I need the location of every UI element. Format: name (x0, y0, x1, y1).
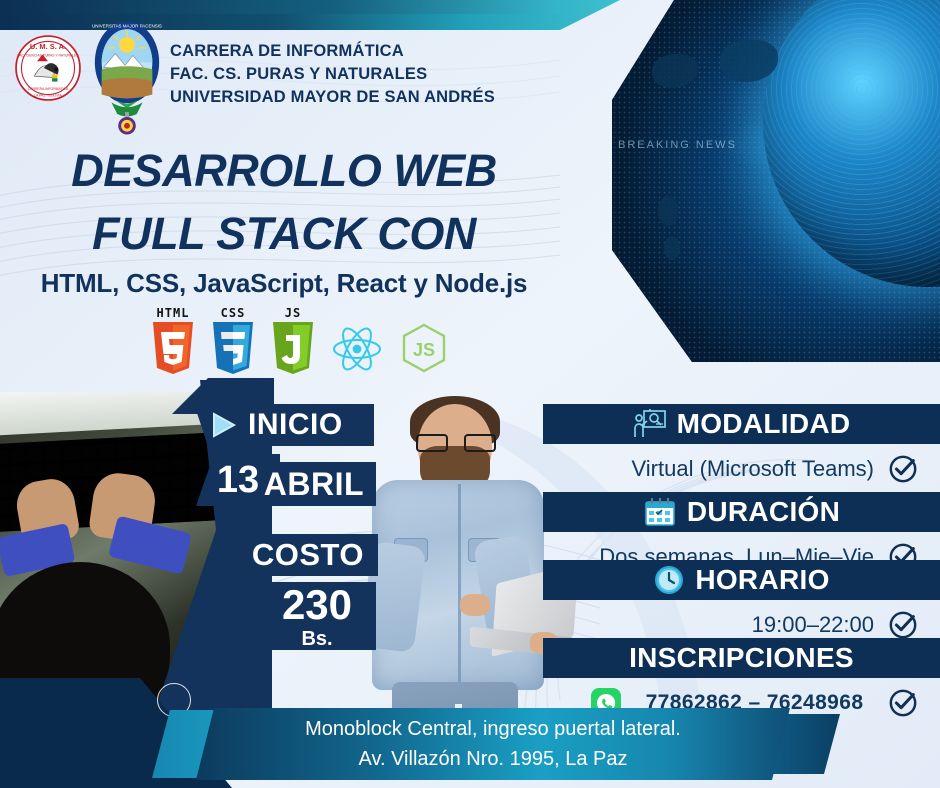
footer-address-block: Monoblock Central, ingreso puertal later… (196, 708, 790, 780)
org-line-university: UNIVERSIDAD MAYOR DE SAN ANDRÉS (170, 86, 495, 109)
svg-text:U. M. S. A.: U. M. S. A. (30, 42, 66, 51)
technology-icon-row: HTML CSS JS (150, 306, 450, 374)
play-icon (210, 412, 238, 438)
institution-name-block: CARRERA DE INFORMÁTICA FAC. CS. PURAS Y … (170, 40, 495, 109)
modalidad-heading-bar: MODALIDAD (543, 404, 940, 444)
horario-heading-bar: HORARIO (543, 560, 940, 600)
page-title-line2: FULL STACK CON (0, 208, 568, 260)
price-currency: Bs. (301, 629, 332, 649)
react-icon (330, 306, 384, 374)
flyer-canvas: BREAKING NEWS U. M. S. A. FAC. CIENCIAS … (0, 0, 940, 788)
inscripciones-heading: INSCRIPCIONES (629, 642, 854, 674)
svg-text:FAC. CIENCIAS PURAS Y NATURALE: FAC. CIENCIAS PURAS Y NATURALES (17, 53, 79, 57)
costo-bar: COSTO (230, 534, 378, 576)
sleeve-right (108, 515, 192, 574)
page-title-line1: DESARROLLO WEB (0, 145, 568, 197)
svg-text:UNIVERSITAS MAJOR PACENSIS: UNIVERSITAS MAJOR PACENSIS (92, 23, 162, 28)
umsa-coat-of-arms: UNIVERSITAS MAJOR PACENSIS (88, 18, 166, 136)
inscripciones-heading-bar: INSCRIPCIONES (543, 638, 940, 678)
org-line-faculty: FAC. CS. PURAS Y NATURALES (170, 63, 495, 86)
modalidad-value-row: Virtual (Microsoft Teams) (543, 448, 940, 490)
price-amount: 230 (282, 584, 352, 626)
calendar-icon (643, 496, 677, 528)
costo-label: COSTO (252, 537, 364, 573)
modalidad-heading: MODALIDAD (677, 408, 851, 440)
inicio-bar: INICIO (194, 404, 374, 446)
start-month-value: ABRIL (264, 466, 364, 503)
modalidad-value: Virtual (Microsoft Teams) (632, 456, 874, 482)
start-day-value: 13 (217, 459, 259, 502)
top-accent-strip-inner (0, 0, 560, 14)
check-circle-icon (888, 454, 918, 484)
css3-icon: CSS (210, 306, 256, 374)
horario-value: 19:00–22:00 (752, 612, 874, 638)
umsa-informatica-seal: U. M. S. A. FAC. CIENCIAS PURAS Y NATURA… (14, 34, 82, 102)
svg-text:JS: JS (413, 340, 435, 360)
start-month-bar: ABRIL (252, 462, 376, 506)
globe-continent (664, 236, 680, 260)
html5-icon: HTML (150, 306, 196, 374)
clock-icon (653, 564, 685, 596)
duracion-heading-bar: DURACIÓN (543, 492, 940, 532)
inicio-label: INICIO (248, 408, 343, 442)
laptop-screen (0, 392, 220, 436)
address-line-2: Av. Villazón Nro. 1995, La Paz (196, 744, 790, 774)
org-line-career: CARRERA DE INFORMÁTICA (170, 40, 495, 63)
address-line-1: Monoblock Central, ingreso puertal later… (196, 714, 790, 744)
globe-breaking-news-text: BREAKING NEWS (618, 139, 737, 151)
institution-logos: U. M. S. A. FAC. CIENCIAS PURAS Y NATURA… (14, 18, 166, 136)
svg-text:LA PAZ - BOLIVIA: LA PAZ - BOLIVIA (34, 94, 62, 98)
footer-bar: Monoblock Central, ingreso puertal later… (0, 702, 940, 788)
nodejs-icon: JS (398, 306, 450, 374)
javascript-shield-icon: JS (270, 306, 316, 374)
globe-continent (658, 196, 678, 226)
presenter-board-icon (633, 408, 667, 440)
price-bar: 230 Bs. (258, 582, 376, 650)
duracion-heading: DURACIÓN (687, 496, 840, 528)
page-subtitle-technologies: HTML, CSS, JavaScript, React y Node.js (0, 268, 568, 299)
person-typing-hand (460, 594, 490, 616)
svg-text:CARRERA INFORMATICA: CARRERA INFORMATICA (28, 87, 69, 91)
horario-heading: HORARIO (695, 564, 829, 596)
globe-hero-image: BREAKING NEWS (612, 0, 940, 362)
person-glasses (416, 434, 496, 452)
check-circle-icon (888, 610, 918, 640)
